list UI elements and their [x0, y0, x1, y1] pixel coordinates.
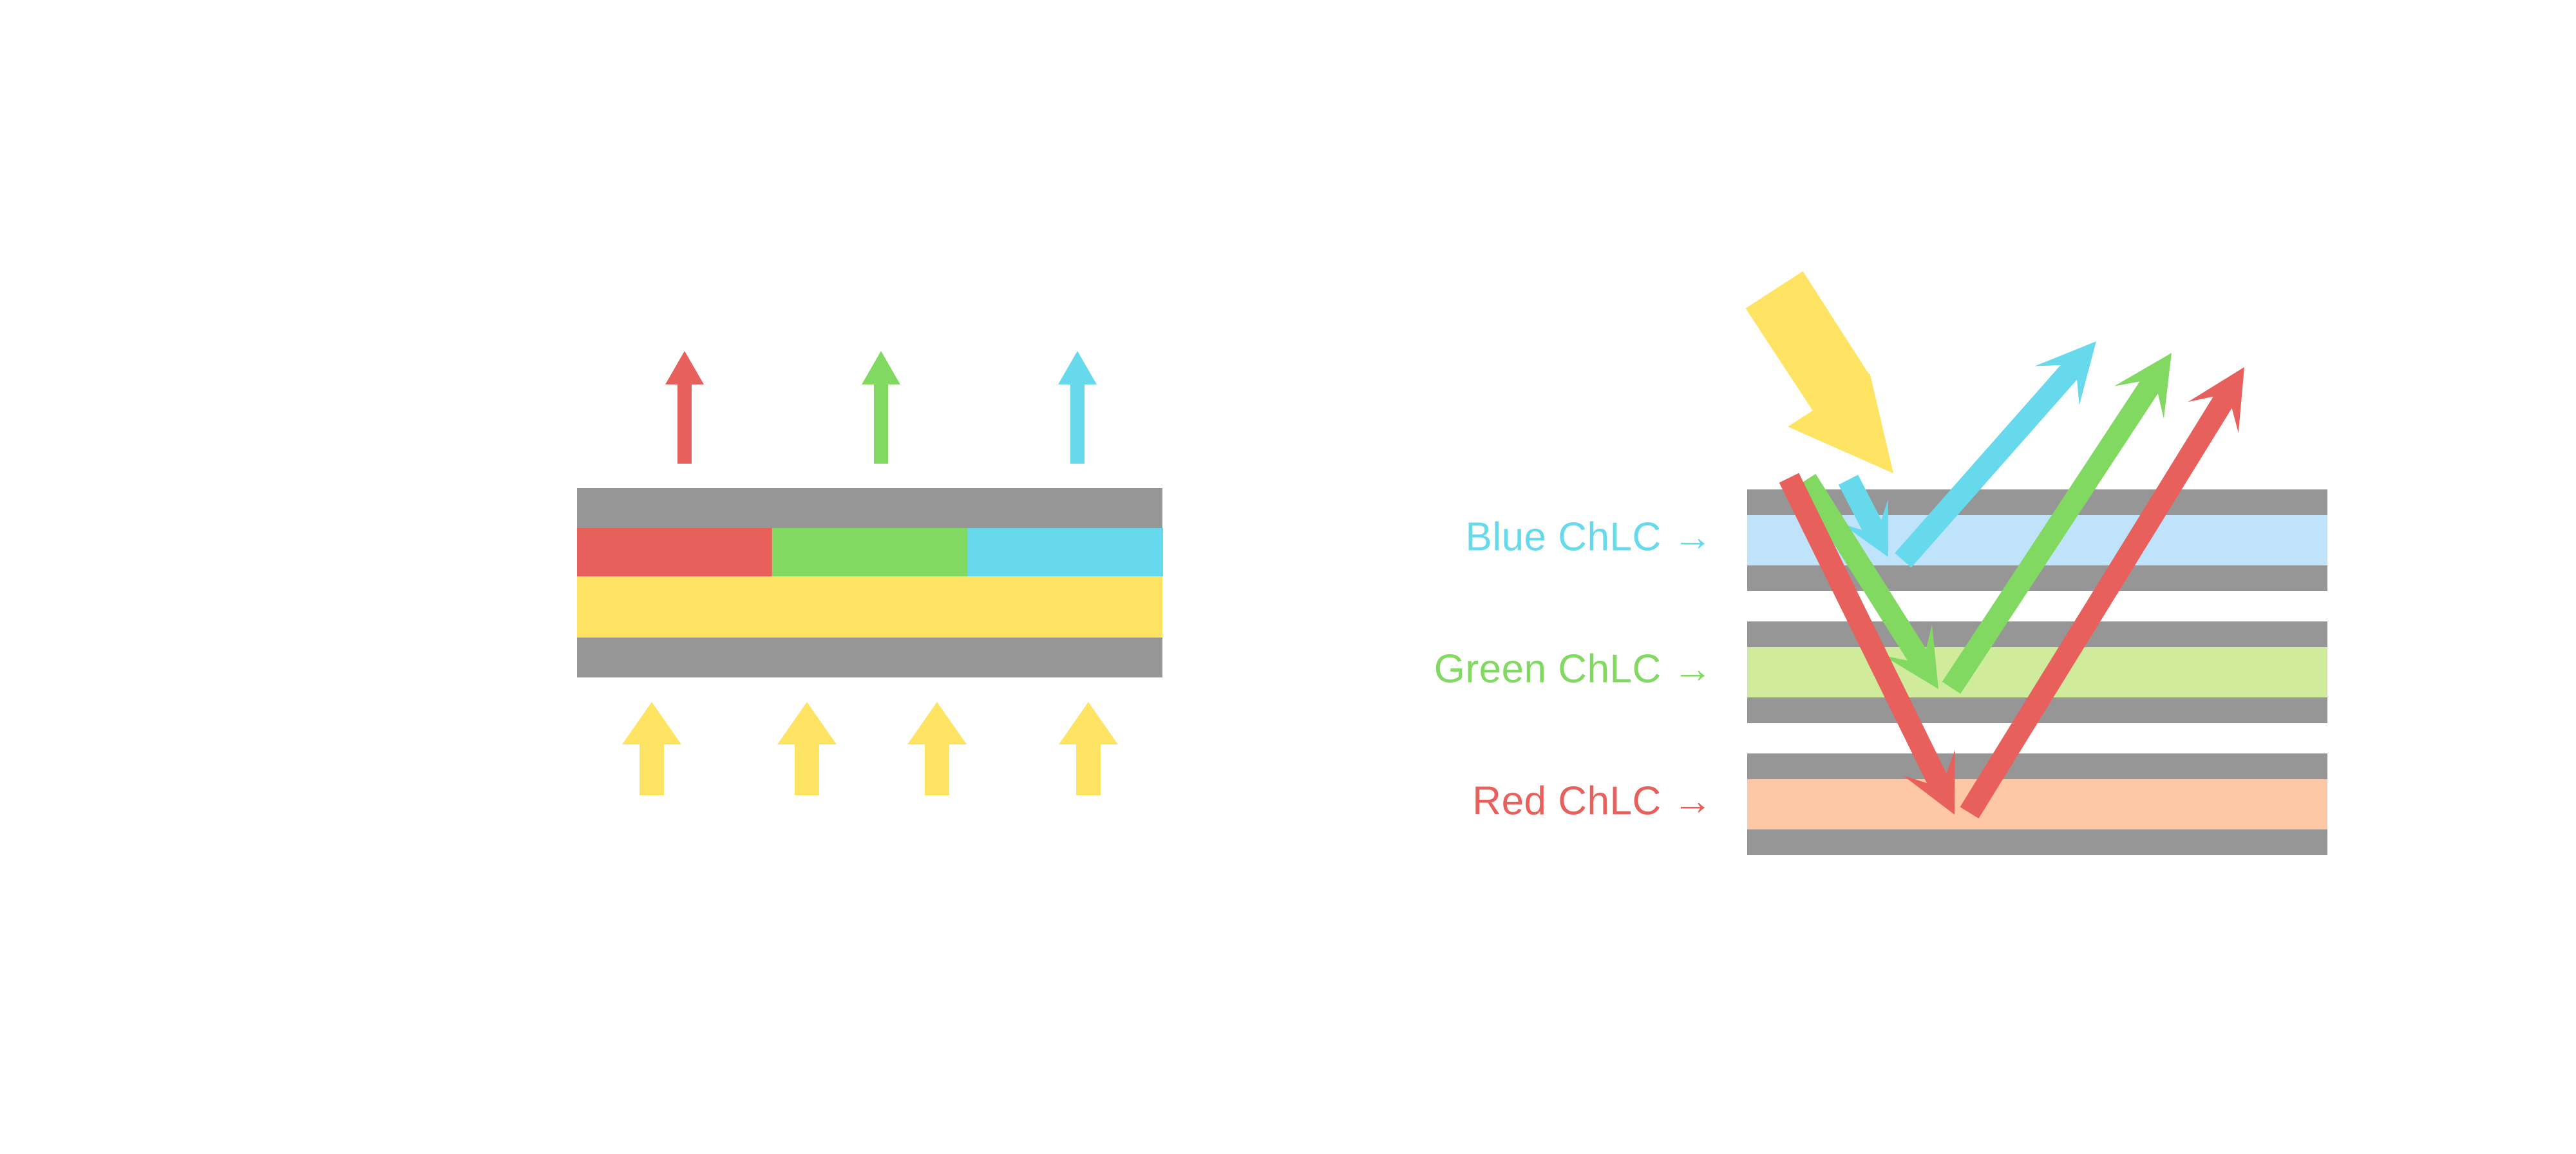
- label-blue-chlc: Blue ChLC →: [1465, 515, 1713, 559]
- right-panel-reflective-stack: Blue ChLC → Green ChLC → Red ChLC →: [1434, 271, 2327, 855]
- label-green-chlc: Green ChLC →: [1434, 647, 1713, 691]
- left-stack-layers-group: [577, 488, 1163, 677]
- red-chlc-layer: [1747, 779, 2327, 829]
- backlight-layer: [577, 576, 1162, 638]
- left-backlight-arrows-group: [622, 702, 1118, 795]
- emitted-red-arrow: [665, 351, 704, 464]
- ambient-light-arrow: [1746, 271, 1893, 473]
- backlight-arrow-3: [907, 702, 967, 795]
- green-subpixel: [772, 528, 969, 576]
- left-panel-transmissive-stack: [577, 351, 1163, 795]
- top-electrode: [577, 488, 1162, 528]
- bottom-electrode: [577, 638, 1162, 677]
- label-red-chlc: Red ChLC →: [1472, 779, 1713, 823]
- chlc-labels-group: Blue ChLC → Green ChLC → Red ChLC →: [1434, 515, 1713, 823]
- red-cell-top-electrode: [1747, 753, 2327, 779]
- emitted-green-arrow: [862, 351, 900, 464]
- green-cell-top-electrode: [1747, 621, 2327, 647]
- red-cell-bottom-electrode: [1747, 829, 2327, 855]
- emitted-blue-arrow: [1058, 351, 1097, 464]
- backlight-arrow-2: [777, 702, 837, 795]
- left-emitted-arrows-group: [665, 351, 1097, 464]
- backlight-arrow-1: [622, 702, 681, 795]
- red-subpixel: [577, 528, 773, 576]
- backlight-arrow-4: [1059, 702, 1118, 795]
- blue-subpixel: [967, 528, 1163, 576]
- diagram-svg: Blue ChLC → Green ChLC → Red ChLC →: [0, 0, 2576, 1154]
- diagram-canvas: Blue ChLC → Green ChLC → Red ChLC →: [0, 0, 2576, 1154]
